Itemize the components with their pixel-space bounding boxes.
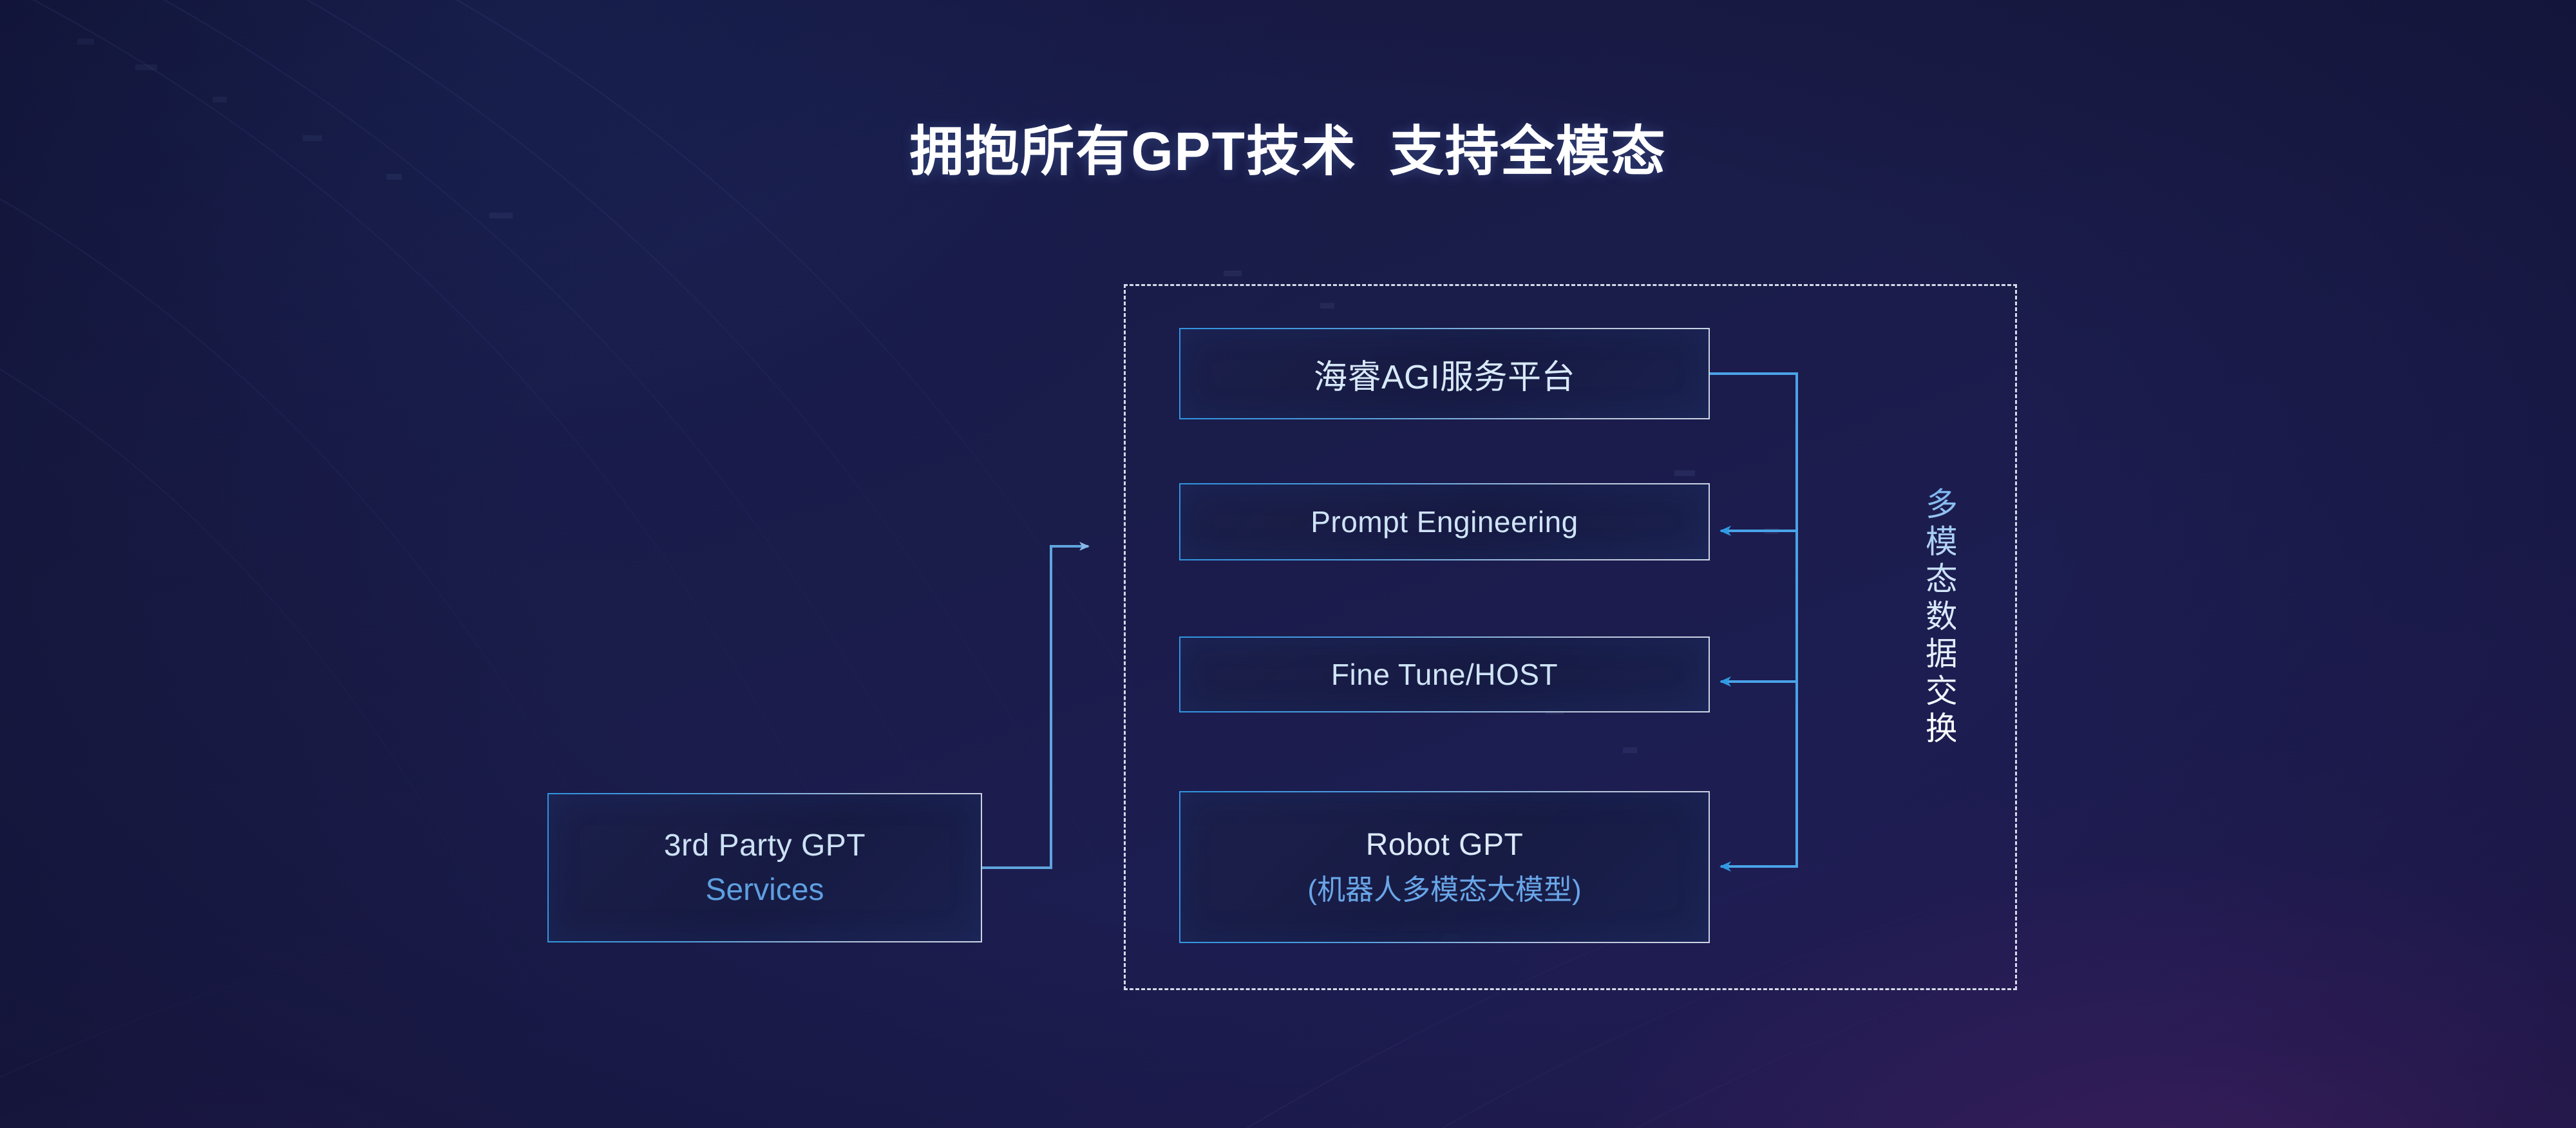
node-prompt-label: Prompt Engineering bbox=[1311, 504, 1578, 539]
node-third-party-gpt-services[interactable]: 3rd Party GPT Services bbox=[547, 793, 982, 942]
node-finetune-label: Fine Tune/HOST bbox=[1331, 657, 1558, 692]
node-robot-gpt[interactable]: Robot GPT (机器人多模态大模型) bbox=[1179, 791, 1710, 943]
node-fine-tune-host[interactable]: Fine Tune/HOST bbox=[1179, 636, 1710, 712]
page-title: 拥抱所有GPT技术 支持全模态 bbox=[0, 108, 2576, 186]
vertical-label-multimodal-data-exchange: 多模态数据交换 bbox=[1909, 487, 1956, 749]
slide-canvas: 拥抱所有GPT技术 支持全模态 bbox=[0, 0, 2576, 1128]
node-thirdparty-sublabel: Services bbox=[705, 872, 824, 908]
node-thirdparty-label: 3rd Party GPT bbox=[664, 828, 866, 863]
node-robot-label: Robot GPT bbox=[1366, 827, 1524, 863]
node-platform-label: 海睿AGI服务平台 bbox=[1314, 350, 1575, 398]
node-hairui-agi-platform[interactable]: 海睿AGI服务平台 bbox=[1179, 328, 1710, 419]
node-robot-sublabel: (机器人多模态大模型) bbox=[1307, 866, 1581, 908]
node-prompt-engineering[interactable]: Prompt Engineering bbox=[1179, 483, 1710, 560]
